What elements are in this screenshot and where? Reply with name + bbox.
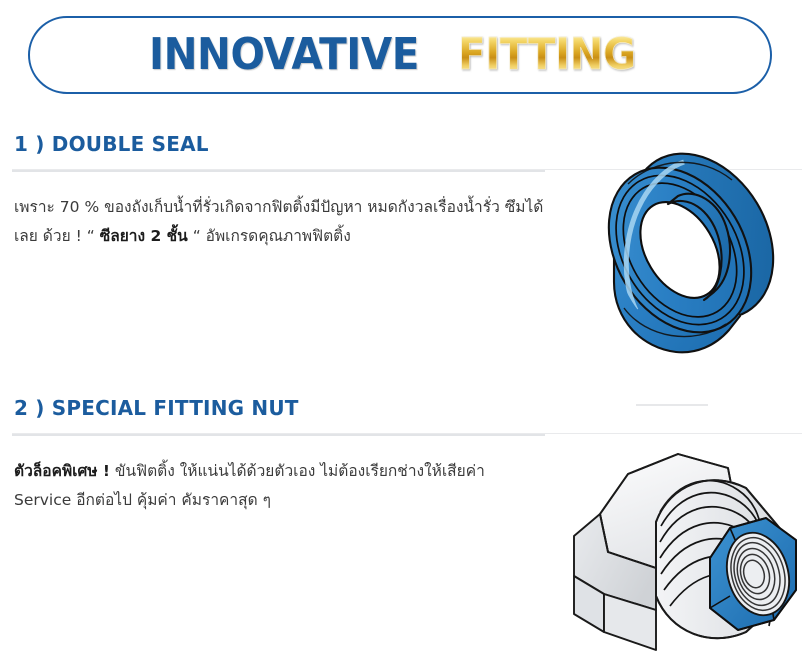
header-title: INNOVATIVE FITTING [149, 33, 652, 77]
divider-line-short [12, 434, 545, 436]
section-2-heading: 2 ) SPECIAL FITTING NUT [14, 396, 560, 420]
section-2-divider [0, 431, 560, 437]
section-1-body-highlight: ซีลยาง 2 ชั้น [100, 227, 188, 245]
header-banner: INNOVATIVE FITTING [28, 16, 772, 94]
section-2-body: ตัวล็อคพิเศษ ! ขันฟิตติ้ง ให้แน่นได้ด้วย… [14, 457, 544, 515]
fitting-nut-illustration [560, 418, 802, 661]
title-innovative: INNOVATIVE [149, 33, 419, 77]
section-1-body-line2-post: “ อัพเกรดคุณภาพฟิตติ้ง [188, 227, 351, 245]
section-special-fitting-nut: 2 ) SPECIAL FITTING NUT ตัวล็อคพิเศษ ! ข… [0, 396, 560, 515]
seal-ring-illustration [584, 132, 798, 368]
section-1-body-line1: เพราะ 70 % ของถังเก็บน้ำที่รั่วเกิดจากฟิ… [14, 198, 500, 216]
section-double-seal: 1 ) DOUBLE SEAL เพราะ 70 % ของถังเก็บน้ำ… [0, 132, 560, 251]
section-2-body-highlight: ตัวล็อคพิเศษ ! [14, 462, 110, 480]
section-1-divider [0, 167, 560, 173]
section-1-heading: 1 ) DOUBLE SEAL [14, 132, 560, 156]
section-1-body: เพราะ 70 % ของถังเก็บน้ำที่รั่วเกิดจากฟิ… [14, 193, 544, 251]
nut-top-rule [636, 404, 708, 406]
divider-line-short [12, 170, 545, 172]
section-2-body-line1-post: ขันฟิตติ้ง ให้แน่นได้ด้วยตัวเอง ไม่ต้องเ… [110, 462, 485, 480]
title-fitting: FITTING [458, 33, 636, 77]
section-2-body-line2: Service อีกต่อไป คุ้มค่า คัมราคาสุด ๆ [14, 491, 271, 509]
